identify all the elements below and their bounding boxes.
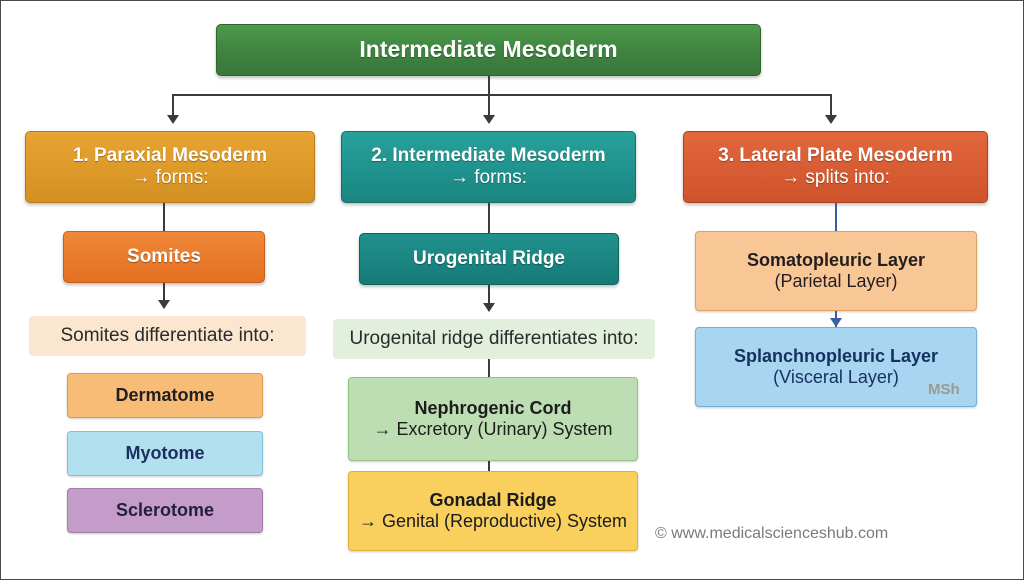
column-2-header-line1: 2. Intermediate Mesoderm xyxy=(371,145,605,167)
col2-connector-header-to-ridge xyxy=(488,203,490,233)
column-2-header-line2: → forms: xyxy=(450,167,527,189)
column-2-leaf-nephrogenic-cord-line2: → Excretory (Urinary) System xyxy=(373,419,612,440)
column-2-leaf-nephrogenic-cord-line1: Nephrogenic Cord xyxy=(414,398,571,419)
column-3-header-line1: 3. Lateral Plate Mesoderm xyxy=(718,145,952,167)
watermark-msh: MSh xyxy=(928,381,960,398)
col2-caption-arrow-icon xyxy=(483,303,495,312)
column-1-header-line1: 1. Paraxial Mesoderm xyxy=(73,145,267,167)
column-2-caption-text: Urogenital ridge differentiates into: xyxy=(349,328,638,350)
column-3-leaf-splanchnopleuric-line1: Splanchnopleuric Layer xyxy=(734,346,938,367)
col3-splanchnopleuric-arrow-icon xyxy=(830,318,842,327)
column-2-header: 2. Intermediate Mesoderm → forms: xyxy=(341,131,636,203)
bus-arrow-col2-icon xyxy=(483,115,495,124)
column-1-caption-text: Somites differentiate into: xyxy=(60,325,274,347)
diagram-canvas: Intermediate Mesoderm 1. Paraxial Mesode… xyxy=(0,0,1024,580)
column-2-leaf-gonadal-ridge-line2: → Genital (Reproductive) System xyxy=(359,511,627,532)
column-1-header: 1. Paraxial Mesoderm → forms: xyxy=(25,131,315,203)
column-1-leaf-dermatome-label: Dermatome xyxy=(115,385,214,406)
col2-connector-caption-to-nephrogenic xyxy=(488,359,490,377)
diagram-title-text: Intermediate Mesoderm xyxy=(359,36,617,63)
column-3-header-line2: → splits into: xyxy=(781,167,890,189)
footer-credit: © www.medicalscienceshub.com xyxy=(655,525,888,543)
column-2-caption-box: Urogenital ridge differentiates into: xyxy=(333,319,655,359)
column-2-primary-box: Urogenital Ridge xyxy=(359,233,619,285)
column-3-leaf-somatopleuric-line1: Somatopleuric Layer xyxy=(747,250,925,271)
column-1-caption-box: Somites differentiate into: xyxy=(29,316,306,356)
title-stem-connector xyxy=(488,76,490,95)
top-bus-connector xyxy=(173,94,832,96)
column-1-primary-box: Somites xyxy=(63,231,265,283)
column-2-leaf-gonadal-ridge: Gonadal Ridge → Genital (Reproductive) S… xyxy=(348,471,638,551)
bus-drop-col2 xyxy=(488,94,490,116)
column-1-leaf-sclerotome: Sclerotome xyxy=(67,488,263,533)
col1-connector-header-to-somites xyxy=(163,203,165,231)
column-1-header-line2: → forms: xyxy=(131,167,208,189)
column-2-leaf-nephrogenic-cord: Nephrogenic Cord → Excretory (Urinary) S… xyxy=(348,377,638,461)
column-3-header: 3. Lateral Plate Mesoderm → splits into: xyxy=(683,131,988,203)
column-2-primary-text: Urogenital Ridge xyxy=(413,248,565,270)
column-1-leaf-sclerotome-label: Sclerotome xyxy=(116,500,214,521)
column-1-leaf-myotome-label: Myotome xyxy=(125,443,204,464)
col1-caption-arrow-icon xyxy=(158,300,170,309)
column-3-leaf-splanchnopleuric-line2: (Visceral Layer) xyxy=(773,367,899,388)
bus-arrow-col1-icon xyxy=(167,115,179,124)
diagram-title-box: Intermediate Mesoderm xyxy=(216,24,761,76)
bus-drop-col1 xyxy=(172,94,174,116)
column-3-leaf-somatopleuric-layer: Somatopleuric Layer (Parietal Layer) xyxy=(695,231,977,311)
bus-arrow-col3-icon xyxy=(825,115,837,124)
bus-drop-col3 xyxy=(830,94,832,116)
column-2-leaf-gonadal-ridge-line1: Gonadal Ridge xyxy=(429,490,556,511)
column-1-leaf-dermatome: Dermatome xyxy=(67,373,263,418)
column-1-leaf-myotome: Myotome xyxy=(67,431,263,476)
column-1-primary-text: Somites xyxy=(127,246,201,268)
col3-connector-header-to-somatopleuric xyxy=(835,203,837,231)
column-3-leaf-somatopleuric-line2: (Parietal Layer) xyxy=(774,271,897,292)
